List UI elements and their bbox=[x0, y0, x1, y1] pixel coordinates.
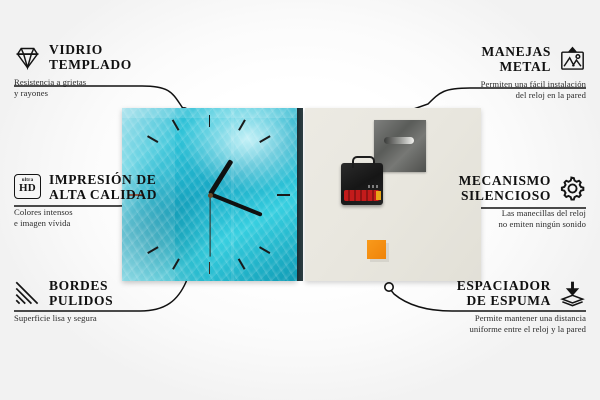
diamond-icon bbox=[14, 44, 41, 71]
clock-tick bbox=[238, 119, 245, 130]
callout-description: Superficie lisa y segura bbox=[14, 313, 246, 324]
clock-tick bbox=[259, 246, 270, 253]
callout-description: Permite mantener una distancia uniforme … bbox=[354, 313, 586, 335]
callout-impresion-alta-calidad: ultra HD IMPRESIÓN DE ALTA CALIDAD Color… bbox=[14, 172, 246, 230]
arrow-onto-layers-icon bbox=[559, 280, 586, 307]
polished-edge-icon bbox=[14, 280, 41, 307]
callout-description: Las manecillas del reloj no emiten ningú… bbox=[354, 208, 586, 230]
callout-espaciador-espuma: ESPACIADOR DE ESPUMA Permite mantener un… bbox=[354, 278, 586, 336]
callout-title: MECANISMO SILENCIOSO bbox=[459, 173, 551, 203]
foam-spacer bbox=[367, 240, 386, 259]
clock-tick bbox=[277, 194, 290, 196]
callout-vidrio-templado: VIDRIO TEMPLADO Resistencia a grietas y … bbox=[14, 42, 246, 100]
callout-title: MANEJAS METAL bbox=[482, 44, 551, 74]
callout-title: IMPRESIÓN DE ALTA CALIDAD bbox=[49, 172, 157, 202]
gear-icon bbox=[559, 175, 586, 202]
clock-tick bbox=[209, 115, 211, 127]
clock-tick bbox=[238, 258, 245, 269]
callout-manejas-metal: MANEJAS METAL Permiten una fácil instala… bbox=[354, 44, 586, 102]
clock-tick bbox=[209, 262, 211, 274]
callout-bordes-pulidos: BORDES PULIDOS Superficie lisa y segura bbox=[14, 278, 246, 324]
callout-description: Permiten una fácil instalación del reloj… bbox=[354, 79, 586, 101]
callout-mecanismo-silencioso: MECANISMO SILENCIOSO Las manecillas del … bbox=[354, 173, 586, 231]
callout-description: Resistencia a grietas y rayones bbox=[14, 77, 246, 99]
clock-tick bbox=[259, 135, 270, 142]
callout-title: ESPACIADOR DE ESPUMA bbox=[457, 278, 551, 308]
picture-frame-hanger-icon bbox=[559, 46, 586, 73]
callout-description: Colores intensos e imagen vívida bbox=[14, 207, 246, 229]
mechanism-loop bbox=[352, 156, 375, 168]
callout-title: VIDRIO TEMPLADO bbox=[49, 42, 132, 72]
hanger-slot bbox=[384, 137, 414, 144]
infographic-canvas: VIDRIO TEMPLADO Resistencia a grietas y … bbox=[0, 0, 600, 400]
callout-title: BORDES PULIDOS bbox=[49, 278, 113, 308]
ultra-hd-icon: ultra HD bbox=[14, 174, 41, 201]
